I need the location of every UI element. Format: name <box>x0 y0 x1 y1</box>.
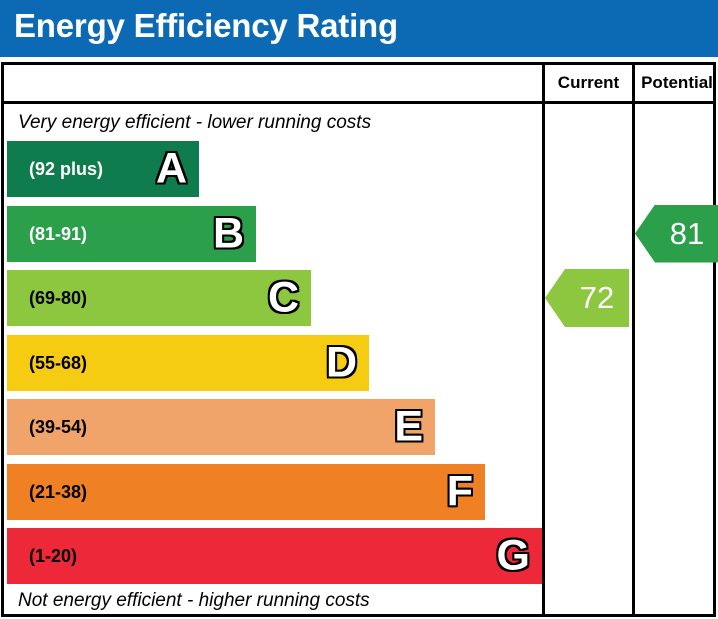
band-bar-e: (39-54)E <box>7 399 435 455</box>
energy-efficiency-rating-chart: Energy Efficiency Rating Current Potenti… <box>0 0 718 619</box>
chart-header-banner: Energy Efficiency Rating <box>0 0 718 57</box>
band-letter-f: F <box>447 470 473 513</box>
page-title: Energy Efficiency Rating <box>14 7 398 45</box>
potential-rating-arrow: 81 <box>635 205 718 263</box>
band-range-e: (39-54) <box>29 399 87 455</box>
band-range-d: (55-68) <box>29 335 87 391</box>
rating-table: Current Potential Very energy efficient … <box>1 62 716 617</box>
band-range-b: (81-91) <box>29 206 87 262</box>
current-rating-arrow-value: 72 <box>565 269 629 327</box>
band-letter-g: G <box>497 535 530 578</box>
band-letter-b: B <box>213 212 244 255</box>
potential-column-header: Potential <box>635 65 718 101</box>
current-column-divider <box>542 65 545 614</box>
band-letter-d: D <box>326 341 357 384</box>
current-rating-arrow: 72 <box>545 269 629 327</box>
band-bar-d: (55-68)D <box>7 335 369 391</box>
band-bar-b: (81-91)B <box>7 206 256 262</box>
potential-rating-arrow-value: 81 <box>655 205 718 263</box>
band-letter-e: E <box>394 406 423 449</box>
current-column-header: Current <box>545 65 632 101</box>
band-letter-c: C <box>268 277 299 320</box>
header-rule-divider <box>4 101 713 104</box>
band-range-a: (92 plus) <box>29 141 103 197</box>
band-range-g: (1-20) <box>29 528 77 584</box>
band-letter-a: A <box>156 148 187 191</box>
band-range-f: (21-38) <box>29 464 87 520</box>
caption-very-efficient: Very energy efficient - lower running co… <box>18 112 371 134</box>
caption-not-efficient: Not energy efficient - higher running co… <box>18 590 370 612</box>
band-bar-a: (92 plus)A <box>7 141 199 197</box>
band-bar-f: (21-38)F <box>7 464 485 520</box>
band-bar-g: (1-20)G <box>7 528 542 584</box>
band-range-c: (69-80) <box>29 270 87 326</box>
band-bar-c: (69-80)C <box>7 270 311 326</box>
potential-column-divider <box>632 65 635 614</box>
